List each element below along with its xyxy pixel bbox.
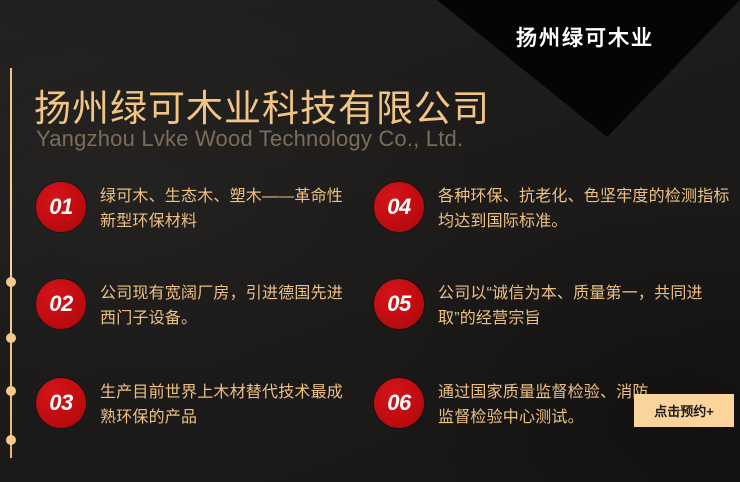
page-title: 扬州绿可木业科技有限公司	[34, 78, 490, 132]
decorative-rail	[10, 68, 12, 458]
item-text: 公司以“诚信为本、质量第一，共同进取”的经营宗旨	[438, 279, 734, 331]
page-subtitle: Yangzhou Lvke Wood Technology Co., Ltd.	[36, 126, 463, 152]
list-item: 05 公司以“诚信为本、质量第一，共同进取”的经营宗旨	[374, 279, 734, 331]
item-text: 通过国家质量监督检验、消防监督检验中心测试。	[438, 378, 650, 430]
brand-tag: 扬州绿可木业	[430, 22, 740, 52]
list-item: 02 公司现有宽阔厂房，引进德国先进西门子设备。	[36, 279, 356, 331]
list-item: 04 各种环保、抗老化、色坚牢度的检测指标均达到国际标准。	[374, 182, 734, 234]
promo-banner: 扬州绿可木业 扬州绿可木业科技有限公司 Yangzhou Lvke Wood T…	[0, 0, 740, 482]
item-text: 生产目前世界上木材替代技术最成熟环保的产品	[100, 378, 356, 430]
item-number-badge: 05	[374, 279, 424, 329]
list-item: 01 绿可木、生态木、塑木——革命性新型环保材料	[36, 182, 356, 234]
book-appointment-button[interactable]: 点击预约+	[634, 394, 734, 427]
item-number-badge: 03	[36, 378, 86, 428]
rail-dot	[6, 277, 16, 287]
item-text: 绿可木、生态木、塑木——革命性新型环保材料	[100, 182, 356, 234]
item-text: 公司现有宽阔厂房，引进德国先进西门子设备。	[100, 279, 356, 331]
rail-dot	[6, 386, 16, 396]
item-number-badge: 06	[374, 378, 424, 428]
item-number-badge: 02	[36, 279, 86, 329]
feature-list: 01 绿可木、生态木、塑木——革命性新型环保材料 02 公司现有宽阔厂房，引进德…	[0, 182, 740, 462]
item-number-badge: 01	[36, 182, 86, 232]
rail-dot	[6, 435, 16, 445]
list-item: 03 生产目前世界上木材替代技术最成熟环保的产品	[36, 378, 356, 430]
rail-dot	[6, 333, 16, 343]
item-number-badge: 04	[374, 182, 424, 232]
item-text: 各种环保、抗老化、色坚牢度的检测指标均达到国际标准。	[438, 182, 734, 234]
